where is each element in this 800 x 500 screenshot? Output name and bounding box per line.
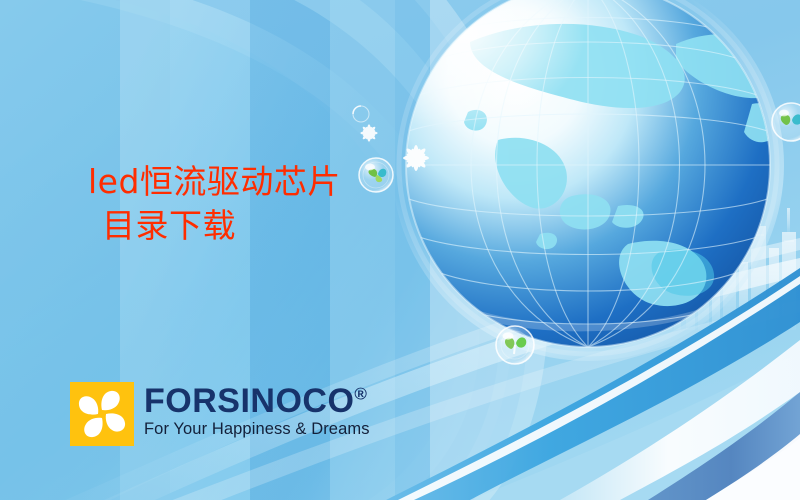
bubble-decorations: [353, 103, 800, 364]
bubble-outline-faint: [353, 106, 369, 122]
forsinoco-pinwheel-icon: [70, 382, 134, 446]
company-wordmark: FORSINOCO®: [144, 384, 370, 418]
city-skyline: [664, 200, 796, 330]
globe-latitudes: [406, 18, 770, 325]
bubble-leaf-lower: [496, 326, 534, 364]
bubble-leaf-right: [772, 103, 800, 141]
company-tagline: For Your Happiness & Dreams: [144, 421, 370, 438]
bubble-leaf-center: [359, 158, 393, 192]
starburst-decorations: [360, 124, 429, 171]
starburst-large: [403, 145, 429, 171]
globe-landmasses: [464, 24, 782, 306]
registered-trademark-icon: ®: [354, 385, 367, 404]
promo-banner: led恒流驱动芯片 目录下载 FORSINOCO® For Your Happi…: [0, 0, 800, 500]
logo-text-block: FORSINOCO® For Your Happiness & Dreams: [144, 382, 370, 438]
company-logo-lockup[interactable]: FORSINOCO® For Your Happiness & Dreams: [70, 382, 370, 446]
wordmark-text: FORSINOCO: [144, 382, 354, 420]
globe-longitudes: [471, 0, 705, 347]
headline-text: led恒流驱动芯片 目录下载: [88, 160, 341, 247]
light-sweeps: [20, 238, 800, 500]
corner-swooshes: [386, 268, 800, 500]
starburst-small: [360, 124, 377, 141]
headline-line-1: led恒流驱动芯片: [88, 160, 341, 204]
headline-line-2: 目录下载: [88, 204, 341, 248]
earth-globe: [370, 0, 786, 361]
